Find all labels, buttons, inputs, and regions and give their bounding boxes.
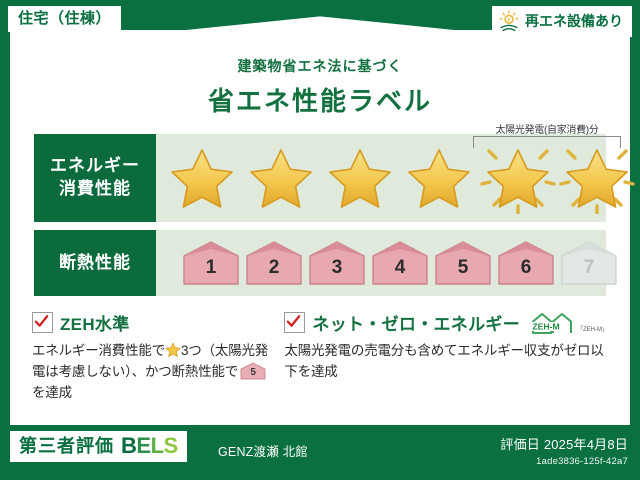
insulation-badge-inactive: 7 [560, 240, 618, 286]
star-icon [480, 142, 556, 214]
badge-value: 1 [182, 240, 240, 286]
renewable-equipment-tag: E 再エネ設備あり [492, 6, 632, 37]
star-icon [559, 142, 635, 214]
footer-band: 第三者評価 BELS GENZ渡瀬 北館 評価日 2025年4月8日 1ade3… [0, 425, 640, 480]
energy-rating-body: 太陽光発電(自家消費)分 [156, 134, 635, 222]
sun-solar-icon: E [498, 10, 520, 32]
title-subtitle: 建築物省エネ法に基づく [10, 56, 630, 76]
criteria-section: ZEH水準 エネルギー消費性能で3つ（太陽光発電は考慮しない）、かつ断熱性能で5… [32, 310, 608, 404]
inline-star-icon [165, 342, 181, 358]
evaluation-date: 評価日 2025年4月8日 [500, 434, 628, 453]
star-solar [480, 142, 556, 214]
energy-performance-label: 住宅（住棟） E 再エネ設備あり 建築物省エネ法に基づく 省エネ性能ラベル [0, 0, 640, 480]
zeh-m-logo-caption: 「ZEH-M」 [577, 324, 608, 335]
zeh-text-part1: エネルギー消費性能で [32, 343, 165, 358]
zeh-standard-checkbox[interactable] [32, 312, 53, 333]
net-zero-checkbox[interactable] [284, 312, 305, 333]
energy-performance-row: エネルギー 消費性能 太陽光発電(自家消費)分 [34, 134, 606, 222]
main-panel: 建築物省エネ法に基づく 省エネ性能ラベル エネルギー 消費性能 太陽光発電(自家… [10, 30, 630, 425]
renewable-tag-label: 再エネ設備あり [525, 14, 623, 28]
energy-label-line2: 消費性能 [59, 178, 131, 201]
badge-value: 6 [497, 240, 555, 286]
zeh-standard-text: エネルギー消費性能で3つ（太陽光発電は考慮しない）、かつ断熱性能で5を達成 [32, 341, 268, 404]
insulation-badge-active: 1 [182, 240, 240, 286]
star-solar [559, 142, 635, 214]
evaluation-date-value: 2025年4月8日 [544, 437, 628, 452]
badge-value: 3 [308, 240, 366, 286]
badge-value: 5 [434, 240, 492, 286]
star-filled [164, 142, 240, 214]
star-icon [401, 142, 477, 214]
star-filled [322, 142, 398, 214]
title-block: 建築物省エネ法に基づく 省エネ性能ラベル [10, 30, 630, 118]
insulation-badge-active: 5 [434, 240, 492, 286]
inline-grade-badge: 5 [240, 362, 266, 380]
check-icon [34, 314, 49, 329]
star-filled [401, 142, 477, 214]
solar-bracket [473, 136, 621, 148]
insulation-performance-row: 断熱性能 1234567 [34, 230, 606, 296]
net-zero-text: 太陽光発電の売電分も含めてエネルギー収支がゼロ以下を達成 [284, 341, 608, 383]
check-icon [286, 314, 301, 329]
building-name: GENZ渡瀬 北館 [218, 441, 308, 460]
evaluation-info: 評価日 2025年4月8日 1ade3836-125f-42a7 [500, 434, 628, 467]
housing-type-tag: 住宅（住棟） [8, 6, 121, 32]
bels-certification-badge: 第三者評価 BELS [10, 431, 187, 462]
solar-caption: 太陽光発電(自家消費)分 [473, 121, 621, 136]
insulation-grade-badges: 1234567 [156, 240, 618, 286]
insulation-badge-active: 4 [371, 240, 429, 286]
energy-label-line1: エネルギー [50, 155, 140, 178]
zeh-m-house-icon: ZEH-M [529, 311, 575, 335]
badge-value: 7 [560, 240, 618, 286]
insulation-badge-active: 6 [497, 240, 555, 286]
bels-jp-label: 第三者評価 [19, 437, 114, 455]
zeh-standard-title: ZEH水準 [60, 310, 130, 335]
title-main: 省エネ性能ラベル [10, 81, 630, 118]
inline-badge-value: 5 [240, 362, 266, 380]
insulation-badge-active: 3 [308, 240, 366, 286]
insulation-badge-active: 2 [245, 240, 303, 286]
star-icon [243, 142, 319, 214]
star-rating [156, 142, 635, 214]
badge-value: 2 [245, 240, 303, 286]
evaluation-date-label: 評価日 [500, 437, 540, 452]
star-icon [164, 142, 240, 214]
badge-value: 4 [371, 240, 429, 286]
evaluation-id: 1ade3836-125f-42a7 [500, 456, 628, 467]
net-zero-header: ネット・ゼロ・エネルギー ZEH-M 「ZEH-M」 [284, 310, 608, 335]
zeh-text-part3: を達成 [32, 385, 72, 400]
insulation-rating-body: 1234567 [156, 230, 618, 296]
net-zero-title: ネット・ゼロ・エネルギー [312, 310, 520, 335]
criterion-net-zero-energy: ネット・ゼロ・エネルギー ZEH-M 「ZEH-M」 太陽光発電の売電分も含めて… [284, 310, 608, 404]
zeh-standard-header: ZEH水準 [32, 310, 268, 335]
insulation-label-line1: 断熱性能 [59, 252, 131, 275]
energy-performance-label: エネルギー 消費性能 [34, 134, 156, 222]
insulation-performance-label: 断熱性能 [34, 230, 156, 296]
rating-rows: エネルギー 消費性能 太陽光発電(自家消費)分 断熱性能 1234567 [34, 134, 606, 296]
star-filled [243, 142, 319, 214]
bels-en-logo: BELS [121, 435, 178, 457]
zeh-m-logo: ZEH-M 「ZEH-M」 [529, 311, 608, 335]
criterion-zeh-standard: ZEH水準 エネルギー消費性能で3つ（太陽光発電は考慮しない）、かつ断熱性能で5… [32, 310, 268, 404]
zeh-m-logo-text: ZEH-M [532, 321, 559, 331]
star-icon [322, 142, 398, 214]
